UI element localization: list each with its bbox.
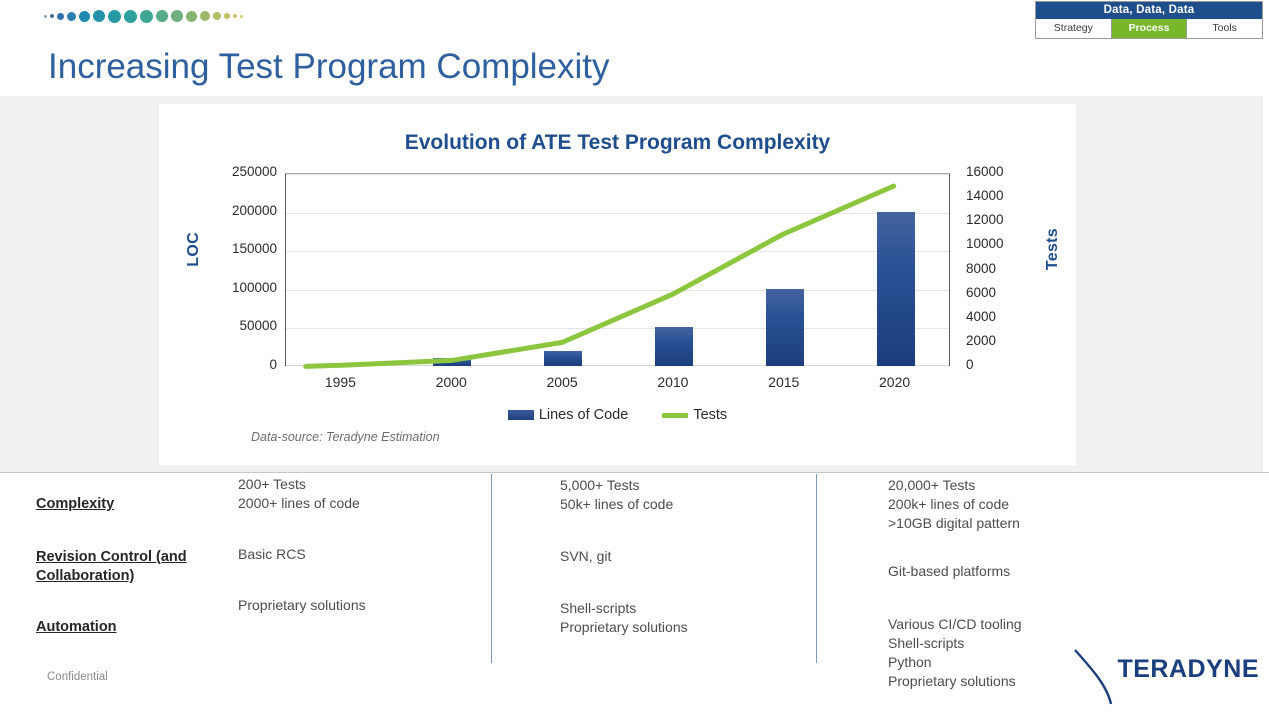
decor-dot-8 [140,10,153,23]
confidential-label: Confidential [47,671,108,683]
x-tick-2020: 2020 [855,374,935,390]
nav-tab-process[interactable]: Process [1112,19,1188,38]
y2-tick-12000: 12000 [966,212,1004,227]
decor-dot-1 [50,14,54,18]
legend-swatch-bar-icon [508,410,534,420]
table-column-divider-1 [491,474,492,663]
section-nav-box: Data, Data, Data StrategyProcessTools [1035,1,1263,39]
cell-c1-automation: Proprietary solutions [238,596,366,615]
x-tick-2015: 2015 [744,374,824,390]
y-tick-100000: 100000 [199,280,277,295]
y-tick-150000: 150000 [199,241,277,256]
teradyne-logo-text: TERADYNE [1117,655,1259,684]
x-tick-1995: 1995 [300,374,380,390]
decor-dot-5 [93,10,105,22]
legend-item-lines-of-code[interactable]: Lines of Code [508,407,628,423]
decor-dot-15 [233,14,237,18]
y-tick-250000: 250000 [199,164,277,179]
decor-dot-9 [156,10,168,22]
row-label-automation: Automation [36,618,246,637]
y2-axis-label: Tests [1044,228,1062,270]
nav-tab-tools[interactable]: Tools [1187,19,1262,38]
decor-dot-0 [44,15,47,18]
cell-c2-complexity: 5,000+ Tests 50k+ lines of code [560,476,673,514]
section-nav-title: Data, Data, Data [1036,2,1262,19]
cell-c3-automation: Various CI/CD tooling Shell-scripts Pyth… [888,615,1022,691]
row-label-revision-control: Revision Control (and Collaboration) [36,548,246,586]
table-column-divider-2 [816,474,817,663]
line-series-tests [286,174,949,366]
y2-tick-4000: 4000 [966,309,996,324]
cell-c1-revision: Basic RCS [238,545,306,564]
decor-dot-11 [186,11,197,22]
decor-dot-12 [200,11,210,21]
decor-dot-4 [79,11,90,22]
x-tick-2000: 2000 [411,374,491,390]
bottom-strip [0,706,1269,712]
decor-dot-16 [240,15,243,18]
table-top-rule [0,472,1269,473]
chart-title: Evolution of ATE Test Program Complexity [159,131,1076,155]
legend-label: Lines of Code [539,407,628,423]
y-tick-0: 0 [199,357,277,372]
legend-swatch-line-icon [662,413,688,418]
y2-tick-16000: 16000 [966,164,1004,179]
decor-dot-3 [67,12,76,21]
chart-source-note: Data-source: Teradyne Estimation [251,430,440,444]
decor-dot-6 [108,10,121,23]
y2-tick-2000: 2000 [966,333,996,348]
y2-tick-14000: 14000 [966,188,1004,203]
y2-tick-0: 0 [966,357,974,372]
decor-dot-13 [213,12,221,20]
row-label-complexity: Complexity [36,495,246,514]
y-tick-200000: 200000 [199,203,277,218]
cell-c2-automation: Shell-scripts Proprietary solutions [560,599,688,637]
cell-c3-complexity: 20,000+ Tests 200k+ lines of code >10GB … [888,476,1020,533]
legend-label: Tests [693,407,727,423]
y2-tick-10000: 10000 [966,236,1004,251]
y2-tick-8000: 8000 [966,261,996,276]
x-tick-2010: 2010 [633,374,713,390]
section-nav-tabs: StrategyProcessTools [1036,19,1262,38]
page-title: Increasing Test Program Complexity [48,47,610,87]
chart-legend: Lines of CodeTests [159,407,1076,423]
y-tick-50000: 50000 [199,318,277,333]
chart-card: Evolution of ATE Test Program Complexity… [159,104,1076,465]
decor-dot-7 [124,10,137,23]
legend-item-tests[interactable]: Tests [662,407,727,423]
x-tick-2005: 2005 [522,374,602,390]
cell-c3-revision: Git-based platforms [888,562,1010,581]
decor-dot-2 [57,13,64,20]
decorative-dot-strip [44,7,243,25]
nav-tab-strategy[interactable]: Strategy [1036,19,1112,38]
decor-dot-14 [224,13,230,19]
plot-area [285,173,950,366]
cell-c2-revision: SVN, git [560,547,611,566]
y2-tick-6000: 6000 [966,285,996,300]
decor-dot-10 [171,10,183,22]
cell-c1-complexity: 200+ Tests 2000+ lines of code [238,475,360,513]
